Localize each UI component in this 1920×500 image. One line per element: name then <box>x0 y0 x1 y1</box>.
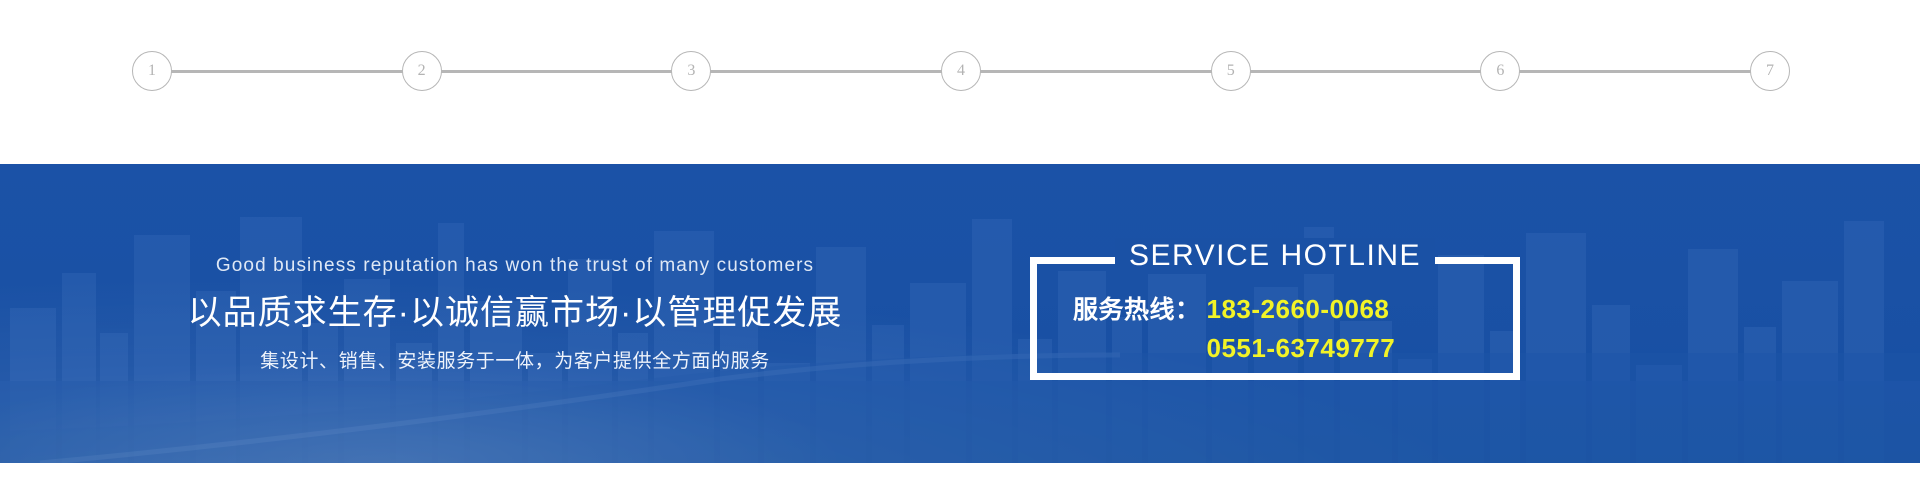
promo-banner: Good business reputation has won the tru… <box>0 164 1920 463</box>
step-node-label: 6 <box>1496 63 1504 79</box>
step-connector-5-6 <box>1250 70 1482 73</box>
slogan-subline: 集设计、销售、安装服务于一体，为客户提供全方面的服务 <box>260 346 770 373</box>
step-connector-3-4 <box>710 70 942 73</box>
hotline-label: 服务热线： <box>1073 291 1201 329</box>
step-node-label: 4 <box>957 63 965 79</box>
bottom-white-strip <box>0 463 1920 500</box>
service-hotline-rows: 服务热线： 183-2660-0068 服务热线： 0551-63749777 <box>1037 290 1513 368</box>
step-node-6[interactable]: 6 <box>1480 51 1520 91</box>
stepper: 1 2 3 4 5 6 7 <box>132 51 1790 91</box>
step-node-label: 2 <box>418 63 426 79</box>
step-node-7[interactable]: 7 <box>1750 51 1790 91</box>
step-node-label: 5 <box>1227 63 1235 79</box>
step-connector-4-5 <box>980 70 1212 73</box>
hotline-row-secondary: 服务热线： 0551-63749777 <box>1073 329 1513 368</box>
step-node-label: 1 <box>148 63 156 79</box>
step-node-1[interactable]: 1 <box>132 51 172 91</box>
step-connector-1-2 <box>171 70 403 73</box>
step-node-label: 7 <box>1766 63 1774 79</box>
step-node-4[interactable]: 4 <box>941 51 981 91</box>
step-connector-2-3 <box>441 70 673 73</box>
step-connector-6-7 <box>1519 70 1751 73</box>
slogan-headline: 以品质求生存·以诚信赢市场·以管理促发展 <box>188 285 843 334</box>
step-node-3[interactable]: 3 <box>671 51 711 91</box>
hotline-row-primary: 服务热线： 183-2660-0068 <box>1073 290 1513 329</box>
slogan-english: Good business reputation has won the tru… <box>216 255 814 277</box>
step-node-5[interactable]: 5 <box>1211 51 1251 91</box>
step-node-label: 3 <box>687 63 695 79</box>
hotline-number-primary[interactable]: 183-2660-0068 <box>1207 290 1390 328</box>
hotline-number-secondary[interactable]: 0551-63749777 <box>1207 329 1396 367</box>
service-hotline-box: SERVICE HOTLINE 服务热线： 183-2660-0068 服务热线… <box>1030 257 1520 380</box>
stepper-band: 1 2 3 4 5 6 7 <box>0 0 1920 164</box>
slogan-block: Good business reputation has won the tru… <box>0 164 1030 463</box>
step-node-2[interactable]: 2 <box>402 51 442 91</box>
